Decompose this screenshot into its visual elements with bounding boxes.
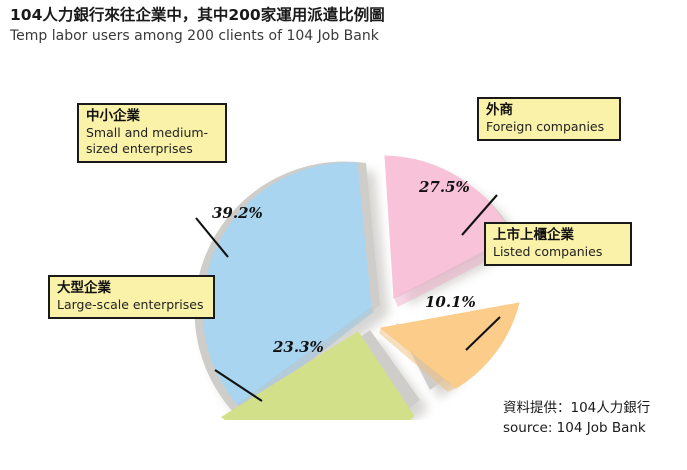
slice-percent-foreign: 27.5%: [419, 178, 470, 196]
callout-sme-english: Small and medium-sized enterprises: [86, 125, 218, 157]
callout-foreign-english: Foreign companies: [486, 119, 612, 135]
page-title-english: Temp labor users among 200 clients of 10…: [10, 27, 670, 46]
slice-percent-large: 23.3%: [273, 338, 324, 356]
callout-label-foreign[interactable]: 外商 Foreign companies: [477, 97, 621, 141]
callout-foreign-chinese: 外商: [486, 102, 612, 119]
source-english: source: 104 Job Bank: [503, 418, 650, 438]
source-attribution: 資料提供：104人力銀行 source: 104 Job Bank: [503, 398, 650, 438]
callout-label-listed[interactable]: 上市上櫃企業 Listed companies: [484, 222, 632, 266]
source-chinese: 資料提供：104人力銀行: [503, 398, 650, 418]
chart-page: 104人力銀行來往企業中，其中200家運用派遣比例圖 Temp labor us…: [0, 0, 687, 470]
slice-percent-sme: 39.2%: [212, 204, 263, 222]
callout-large-chinese: 大型企業: [57, 280, 206, 297]
callout-large-english: Large-scale enterprises: [57, 297, 206, 313]
callout-listed-chinese: 上市上櫃企業: [493, 227, 623, 244]
callout-listed-english: Listed companies: [493, 244, 623, 260]
callout-sme-chinese: 中小企業: [86, 108, 218, 125]
page-title-chinese: 104人力銀行來往企業中，其中200家運用派遣比例圖: [10, 5, 670, 26]
callout-label-sme[interactable]: 中小企業 Small and medium-sized enterprises: [77, 103, 227, 163]
callout-label-large[interactable]: 大型企業 Large-scale enterprises: [48, 275, 215, 319]
slice-percent-listed: 10.1%: [425, 293, 476, 311]
chart-header: 104人力銀行來往企業中，其中200家運用派遣比例圖 Temp labor us…: [10, 5, 670, 46]
